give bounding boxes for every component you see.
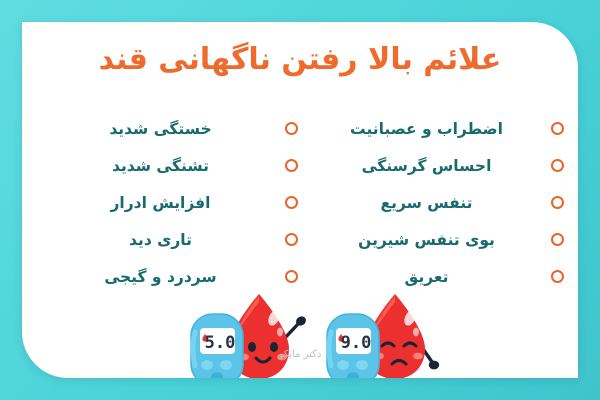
- illustration-group: 5.0: [182, 274, 452, 378]
- symptom-label: تنفس سریع: [302, 194, 551, 212]
- glucose-meter-sad-icon: 9.0: [327, 314, 379, 378]
- infographic-poster: علائم بالا رفتن ناگهانی قند خستگی شدید ت…: [0, 0, 600, 400]
- symptom-label: افزایش ادرار: [36, 194, 285, 212]
- list-item: تاری دید: [36, 221, 298, 258]
- bullet-circle-icon: [285, 196, 298, 209]
- bullet-circle-icon: [551, 196, 564, 209]
- symptom-label: تاری دید: [36, 231, 285, 249]
- blood-drop-sad-icon: 9.0: [318, 274, 448, 378]
- bullet-circle-icon: [551, 122, 564, 135]
- list-item: تنفس سریع: [302, 184, 564, 221]
- list-item: خستگی شدید: [36, 110, 298, 147]
- content-card: علائم بالا رفتن ناگهانی قند خستگی شدید ت…: [22, 22, 578, 378]
- symptom-label: بوی تنفس شیرین: [302, 231, 551, 249]
- bullet-circle-icon: [551, 270, 564, 283]
- list-item: تشنگی شدید: [36, 147, 298, 184]
- symptom-label: اضطراب و عصبانیت: [302, 120, 551, 138]
- happy-blood-drop-illustration: 5.0: [182, 274, 312, 378]
- bullet-circle-icon: [285, 233, 298, 246]
- bullet-circle-icon: [551, 159, 564, 172]
- sad-blood-drop-illustration: 9.0: [318, 274, 448, 378]
- watermark-text: دکتر مایکو: [22, 349, 578, 360]
- symptom-column-right: خستگی شدید تشنگی شدید افزایش ادرار تاری …: [36, 110, 298, 295]
- symptom-label: تشنگی شدید: [36, 157, 285, 175]
- symptom-label: خستگی شدید: [36, 120, 285, 138]
- list-item: احساس گرسنگی: [302, 147, 564, 184]
- symptoms-columns: خستگی شدید تشنگی شدید افزایش ادرار تاری …: [22, 110, 578, 295]
- bullet-circle-icon: [551, 233, 564, 246]
- symptom-column-left: اضطراب و عصبانیت احساس گرسنگی تنفس سریع …: [302, 110, 564, 295]
- list-item: افزایش ادرار: [36, 184, 298, 221]
- page-title: علائم بالا رفتن ناگهانی قند: [22, 42, 578, 77]
- glucose-meter-happy-icon: 5.0: [191, 314, 243, 378]
- bullet-circle-icon: [285, 122, 298, 135]
- list-item: اضطراب و عصبانیت: [302, 110, 564, 147]
- bullet-circle-icon: [285, 159, 298, 172]
- blood-drop-happy-icon: 5.0: [182, 274, 312, 378]
- list-item: بوی تنفس شیرین: [302, 221, 564, 258]
- symptom-label: احساس گرسنگی: [302, 157, 551, 175]
